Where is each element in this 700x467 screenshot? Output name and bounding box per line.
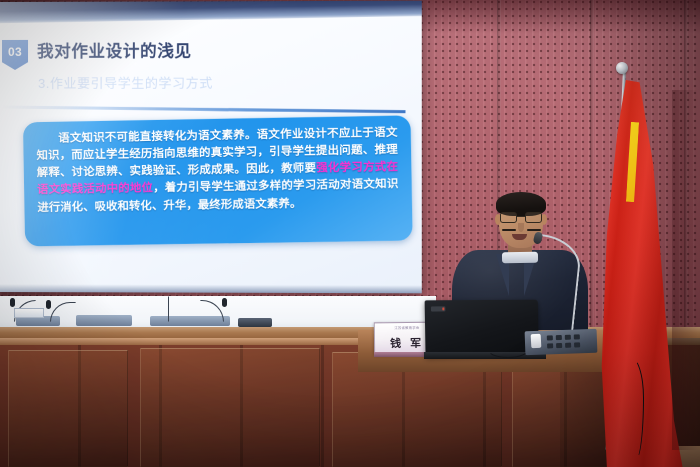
presenter-eyebrow-left [502,229,516,231]
console-button[interactable] [547,343,553,348]
dais-wood-panel [140,348,320,467]
slide-section-badge: 03 [2,40,28,70]
nameplate-name: 钱 军 [390,335,424,351]
conference-unit [76,315,132,326]
microphone-stem [168,296,170,322]
thinkpad-logo-icon [431,306,445,311]
console-knob[interactable] [531,334,542,349]
console-button[interactable] [547,335,553,340]
console-button[interactable] [574,342,580,347]
microphone-head [46,300,51,309]
console-button[interactable] [565,343,571,348]
slide-text-panel: 语文知识不可能直接转化为语文素养。语文作业设计不应止于语文知识，而应让学生经历指… [23,115,413,246]
presenter-shirt-collar [502,252,538,264]
nameplate-organization: 江苏省教育学会 [394,325,419,330]
microphone-head [222,298,227,307]
presenter-eyebrow-right [527,229,541,231]
slide-accent-rule [2,106,406,114]
slide-subtitle: 3.作业要引导学生的学习方式 [38,73,213,92]
slide-header: 03 我对作业设计的浅见 [2,40,192,70]
console-button[interactable] [556,343,562,348]
flag-cast-shadow [672,90,698,450]
conference-unit [150,316,200,326]
eyeglass-lens-left [500,212,517,223]
screen-bottom-edge [0,284,422,293]
eyeglass-bridge [517,216,525,217]
flag-pole-finial [616,62,628,74]
projection-screen: 03 我对作业设计的浅见 3.作业要引导学生的学习方式 语文知识不可能直接转化为… [0,1,422,294]
slide-title: 我对作业设计的浅见 [37,40,192,62]
presentation-slide: 03 我对作业设计的浅见 3.作业要引导学生的学习方式 语文知识不可能直接转化为… [0,15,422,294]
console-button[interactable] [556,335,562,340]
dais-wood-panel [8,350,128,467]
presenter-nose [518,223,524,232]
eyeglass-lens-right [525,212,542,223]
document-stack [14,308,44,318]
microphone-head [10,298,15,307]
console-button[interactable] [574,334,580,339]
console-button[interactable] [565,335,571,340]
floor-cable [624,356,644,460]
screenshot-root: 03 我对作业设计的浅见 3.作业要引导学生的学习方式 语文知识不可能直接转化为… [0,0,700,467]
desk-equipment [238,318,272,327]
slide-body-text: 语文知识不可能直接转化为语文素养。语文作业设计不应止于语文知识，而应让学生经历指… [36,125,399,217]
